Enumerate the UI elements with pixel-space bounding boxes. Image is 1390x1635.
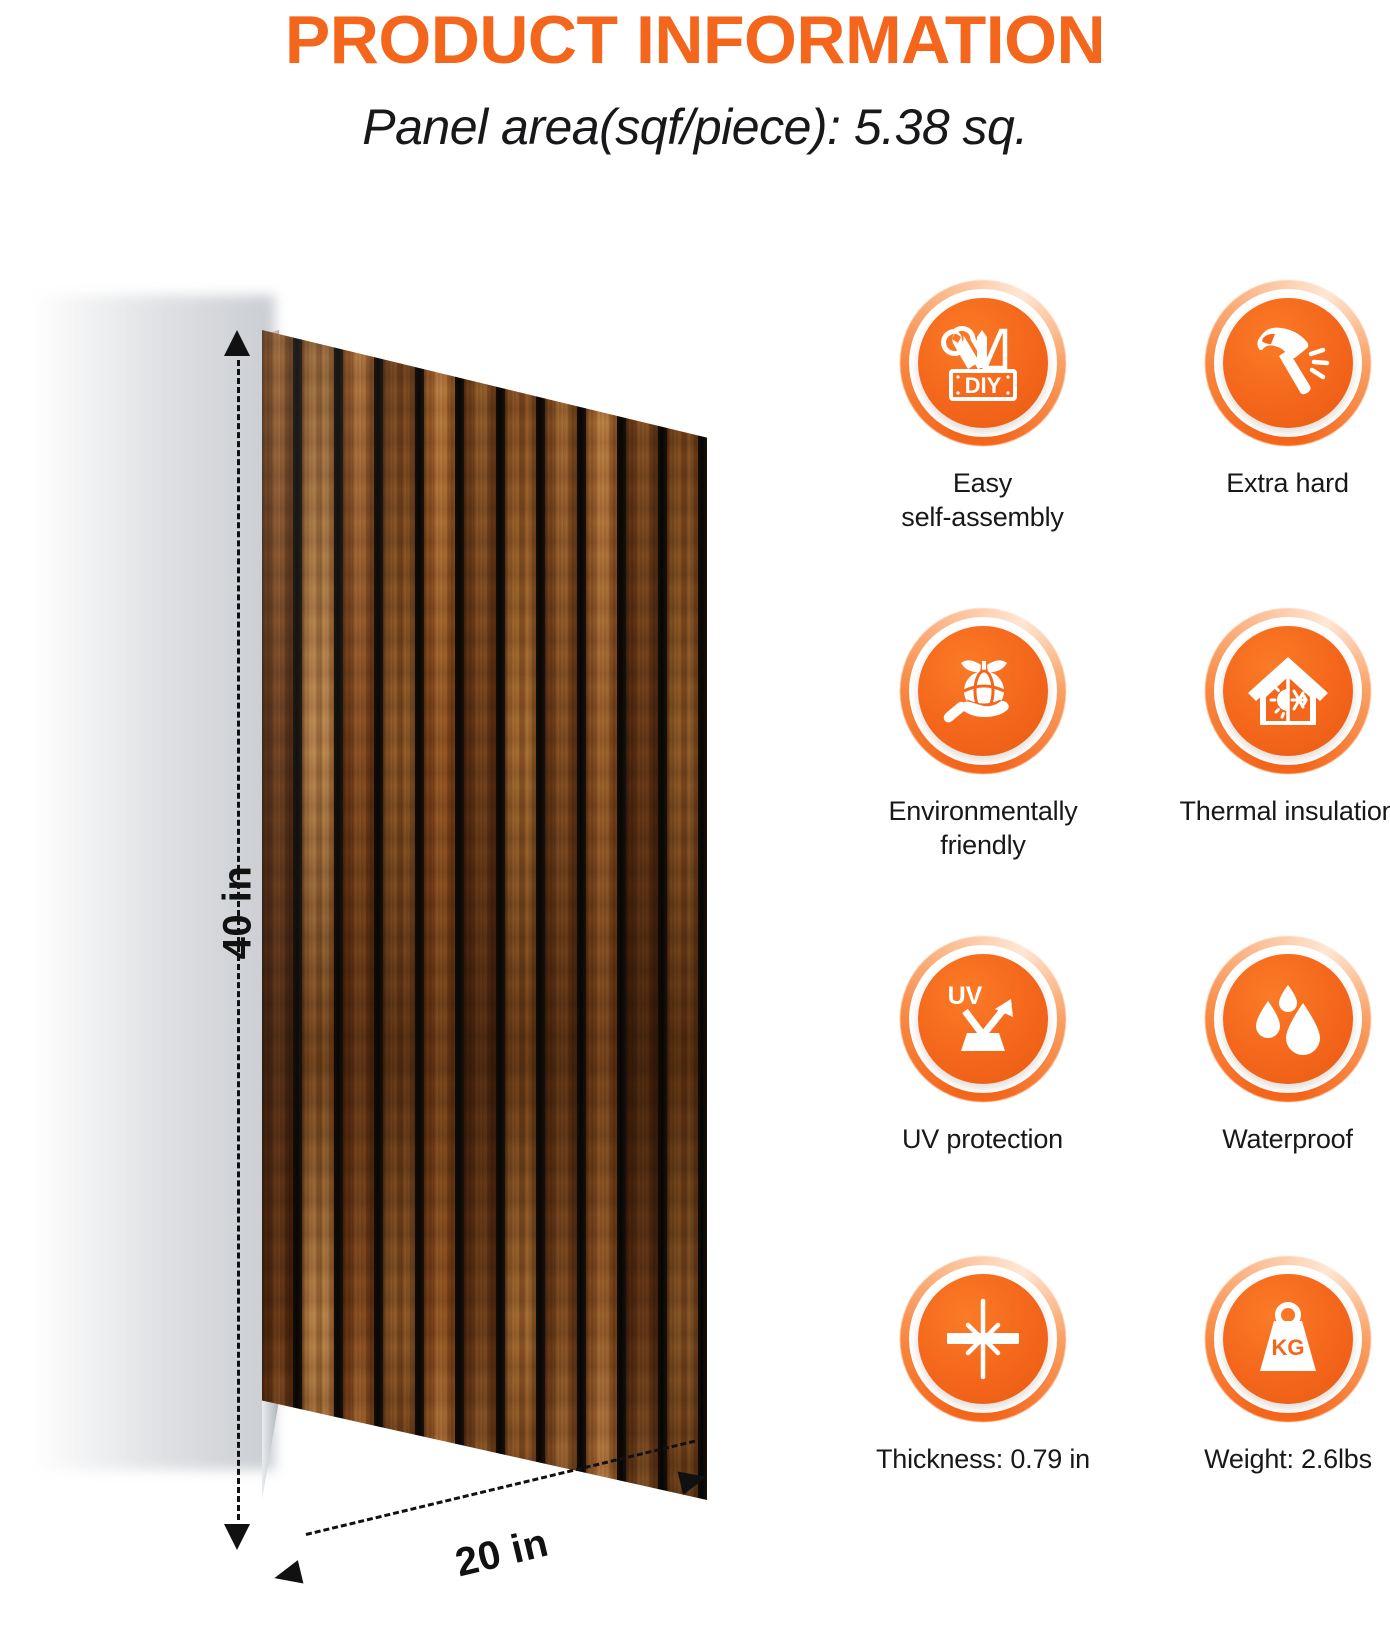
product-image-area: 40 in 20 in bbox=[0, 190, 820, 1500]
panel-groove bbox=[698, 330, 707, 1500]
panel-slat bbox=[586, 330, 617, 1500]
feature-label-line2: self-assembly bbox=[840, 500, 1125, 534]
panel-slat bbox=[505, 330, 536, 1500]
badge-weight: KG bbox=[1205, 1256, 1371, 1422]
feature-extra-hard: Extra hard bbox=[1145, 280, 1390, 500]
feature-label-line1: Weight: 2.6lbs bbox=[1128, 1442, 1390, 1476]
feature-label-line1: Easy bbox=[840, 466, 1125, 500]
badge-diy: DIY bbox=[900, 280, 1066, 446]
dimension-width-label: 20 in bbox=[400, 1508, 605, 1598]
badge-thickness bbox=[900, 1256, 1066, 1422]
water-drops-icon bbox=[1223, 954, 1353, 1084]
arrow-left-icon bbox=[272, 1560, 304, 1590]
panel-groove bbox=[577, 330, 586, 1500]
arrow-down-icon bbox=[224, 1524, 250, 1550]
dimension-width: 20 in bbox=[272, 1435, 742, 1635]
badge-disc bbox=[1223, 954, 1353, 1084]
badge-disc bbox=[918, 626, 1048, 756]
feature-label-line1: Thickness: 0.79 in bbox=[823, 1442, 1143, 1476]
panel-groove bbox=[415, 330, 424, 1500]
panel-groove bbox=[617, 330, 626, 1500]
panel-slat bbox=[545, 330, 576, 1500]
feature-label: Thickness: 0.79 in bbox=[823, 1442, 1143, 1476]
feature-thickness: Thickness: 0.79 in bbox=[840, 1256, 1125, 1476]
badge-disc bbox=[1223, 298, 1353, 428]
panel-slat bbox=[424, 330, 455, 1500]
badge-disc bbox=[918, 1274, 1048, 1404]
panel-slat bbox=[626, 330, 657, 1500]
uv-shield-icon: UV bbox=[918, 954, 1048, 1084]
hammer-icon bbox=[1223, 298, 1353, 428]
thickness-arrows-icon bbox=[918, 1274, 1048, 1404]
badge-eco bbox=[900, 608, 1066, 774]
feature-label-line2: friendly bbox=[823, 828, 1143, 862]
feature-label-line1: Thermal insulation bbox=[1128, 794, 1390, 828]
panel-groove bbox=[455, 330, 464, 1500]
arrow-right-icon bbox=[678, 1465, 710, 1495]
feature-label: Environmentally friendly bbox=[823, 794, 1143, 862]
arrow-up-icon bbox=[224, 330, 250, 356]
feature-weight: KG Weight: 2.6lbs bbox=[1145, 1256, 1390, 1476]
page-subtitle: Panel area(sqf/piece): 5.38 sq. bbox=[0, 96, 1390, 158]
panel-slat bbox=[343, 330, 374, 1500]
badge-disc: UV bbox=[918, 954, 1048, 1084]
badge-uv: UV bbox=[900, 936, 1066, 1102]
feature-uv-protection: UV UV protection bbox=[840, 936, 1125, 1156]
panel-slat bbox=[302, 330, 333, 1500]
wood-slat-panel bbox=[262, 330, 707, 1500]
panel-groove bbox=[536, 330, 545, 1500]
feature-label: Extra hard bbox=[1145, 466, 1390, 500]
panel-slat bbox=[262, 330, 293, 1500]
uv-glyph-text: UV bbox=[947, 982, 982, 1010]
feature-label: Easy self-assembly bbox=[840, 466, 1125, 534]
feature-grid: DIY Easy self-assembly bbox=[820, 250, 1390, 1500]
panel-slat bbox=[464, 330, 495, 1500]
page-title: PRODUCT INFORMATION bbox=[0, 2, 1390, 78]
badge-disc bbox=[1223, 626, 1353, 756]
badge-waterproof bbox=[1205, 936, 1371, 1102]
diy-tools-icon: DIY bbox=[918, 298, 1048, 428]
badge-thermal bbox=[1205, 608, 1371, 774]
panel-slat bbox=[383, 330, 414, 1500]
weight-kg-icon: KG bbox=[1223, 1274, 1353, 1404]
house-thermal-icon bbox=[1223, 626, 1353, 756]
feature-label-line1: Extra hard bbox=[1145, 466, 1390, 500]
feature-label: Weight: 2.6lbs bbox=[1128, 1442, 1390, 1476]
feature-easy-self-assembly: DIY Easy self-assembly bbox=[840, 280, 1125, 534]
feature-label: Waterproof bbox=[1145, 1122, 1390, 1156]
feature-label-line1: Waterproof bbox=[1145, 1122, 1390, 1156]
feature-thermal-insulation: Thermal insulation bbox=[1145, 608, 1390, 828]
panel-groove bbox=[658, 330, 667, 1500]
panel-groove bbox=[334, 330, 343, 1500]
feature-label-line1: UV protection bbox=[840, 1122, 1125, 1156]
panel-groove bbox=[293, 330, 302, 1500]
header: PRODUCT INFORMATION Panel area(sqf/piece… bbox=[0, 0, 1390, 190]
dimension-line-horizontal bbox=[306, 1440, 696, 1536]
hand-holding-plant-icon bbox=[918, 626, 1048, 756]
dimension-height-label: 40 in bbox=[216, 833, 261, 993]
feature-environmentally-friendly: Environmentally friendly bbox=[840, 608, 1125, 862]
feature-label-line1: Environmentally bbox=[823, 794, 1143, 828]
feature-label: UV protection bbox=[840, 1122, 1125, 1156]
panel-slat bbox=[667, 330, 698, 1500]
panel-groove bbox=[496, 330, 505, 1500]
feature-label: Thermal insulation bbox=[1128, 794, 1390, 828]
dimension-height: 40 in bbox=[210, 320, 266, 1560]
badge-disc: KG bbox=[1223, 1274, 1353, 1404]
kg-glyph-text: KG bbox=[1271, 1335, 1304, 1360]
badge-extra-hard bbox=[1205, 280, 1371, 446]
panel-groove bbox=[374, 330, 383, 1500]
badge-disc: DIY bbox=[918, 298, 1048, 428]
diy-glyph-text: DIY bbox=[964, 373, 1001, 398]
feature-waterproof: Waterproof bbox=[1145, 936, 1390, 1156]
